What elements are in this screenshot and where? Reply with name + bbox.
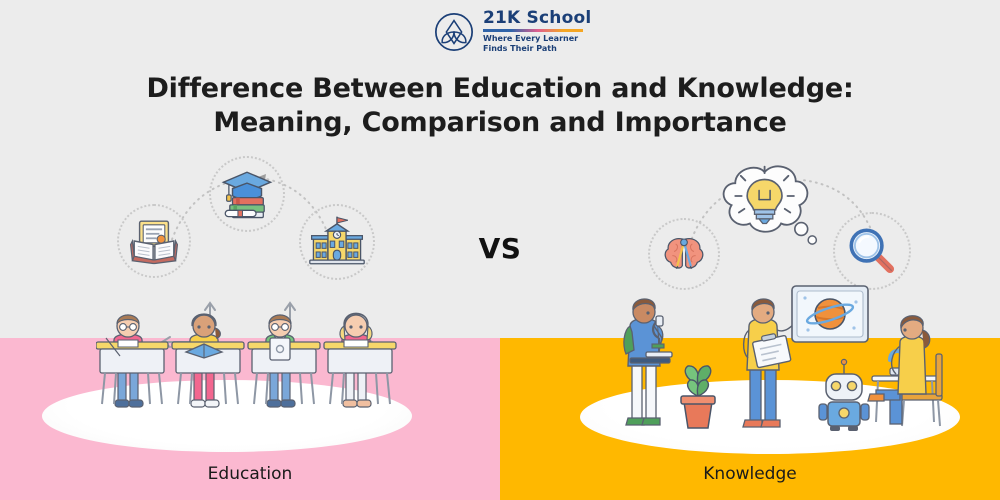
node-school[interactable] [299, 204, 375, 280]
planet-screen [792, 286, 868, 342]
node-thought-lightbulb[interactable] [700, 152, 820, 262]
learner-microscope [624, 299, 672, 425]
page-title-line2: Meaning, Comparison and Importance [0, 106, 1000, 140]
brand-tagline-line1: Where Every Learner [483, 34, 591, 44]
graduation-cap-books-icon [218, 165, 276, 223]
knowledge-caption: Knowledge [500, 464, 1000, 484]
student-blonde-pink [324, 313, 396, 407]
brand-logo[interactable]: 21K School Where Every Learner Finds The… [433, 10, 591, 54]
node-magnifier[interactable] [833, 212, 911, 290]
robot [819, 359, 869, 431]
classroom-students-scene [96, 296, 406, 446]
page-title-line1: Difference Between Education and Knowled… [0, 72, 1000, 106]
student-pink-shirt [96, 315, 168, 407]
thought-bubble-lightbulb-icon [700, 152, 820, 262]
learner-seated-desk [868, 316, 944, 426]
brand-tagline-line2: Finds Their Path [483, 44, 591, 54]
node-open-book[interactable] [117, 204, 191, 278]
node-graduation[interactable] [209, 156, 285, 232]
brand-gradient-rule [483, 29, 583, 32]
magnifying-glass-icon [845, 224, 899, 278]
brand-name: 21K School [483, 10, 591, 27]
student-yellow-shirt [172, 314, 244, 407]
lotus-circle-logo-icon [433, 11, 475, 53]
student-green-shirt [248, 315, 320, 407]
education-caption: Education [0, 464, 500, 484]
page-title: Difference Between Education and Knowled… [0, 72, 1000, 140]
open-book-icon [127, 214, 181, 268]
school-building-icon [308, 213, 366, 271]
discovery-learners-scene [604, 282, 944, 446]
infographic-canvas: 21K School Where Every Learner Finds The… [0, 0, 1000, 500]
potted-plant [681, 366, 715, 428]
